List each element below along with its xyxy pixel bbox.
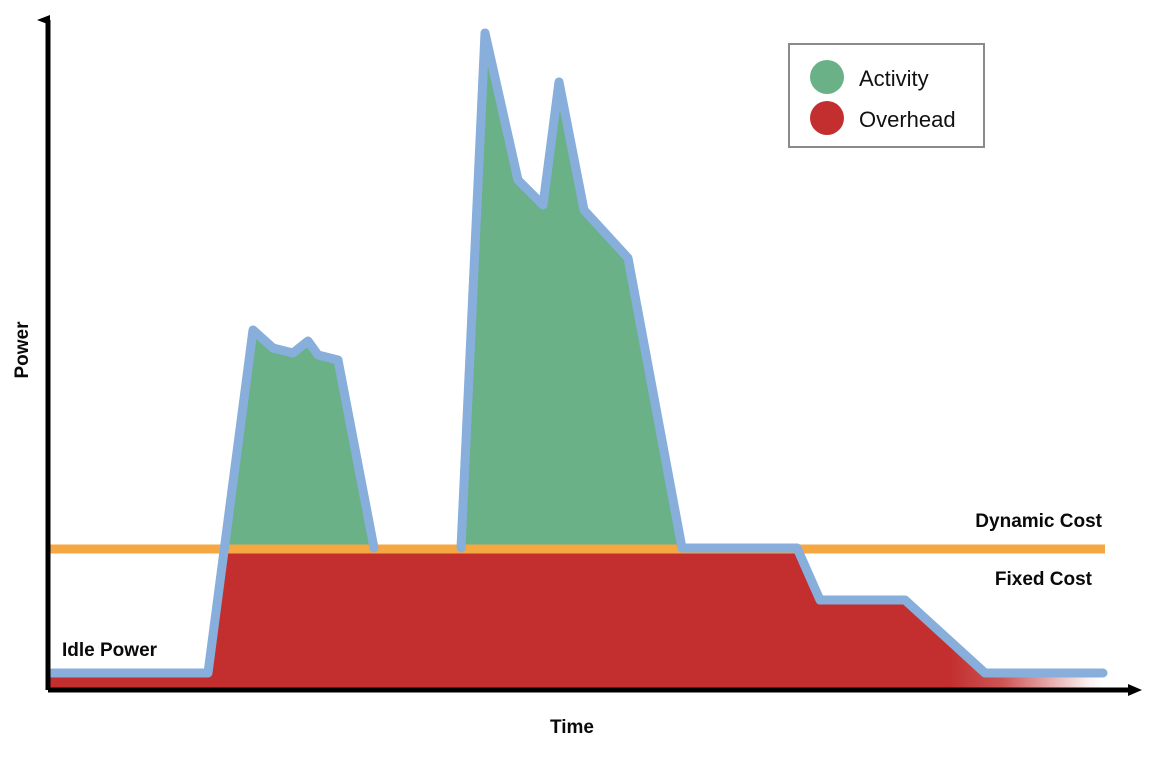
legend-item-overhead[interactable]: Overhead	[810, 101, 956, 135]
legend-label-activity: Activity	[859, 66, 929, 91]
dynamic-cost-label: Dynamic Cost	[975, 511, 1102, 532]
legend-swatch-activity-icon	[810, 60, 844, 94]
legend-item-activity[interactable]: Activity	[810, 60, 929, 94]
legend-swatch-overhead-icon	[810, 101, 844, 135]
chart-canvas: Power Time Idle Power Dynamic Cost Fixed…	[0, 0, 1172, 758]
legend: Activity Overhead	[789, 44, 984, 147]
x-axis-label: Time	[550, 717, 594, 738]
idle-power-label: Idle Power	[62, 640, 158, 661]
fixed-cost-label: Fixed Cost	[995, 569, 1093, 590]
power-profile-chart: Power Time Idle Power Dynamic Cost Fixed…	[0, 0, 1172, 758]
y-axis-label: Power	[12, 321, 33, 379]
legend-label-overhead: Overhead	[859, 107, 956, 132]
